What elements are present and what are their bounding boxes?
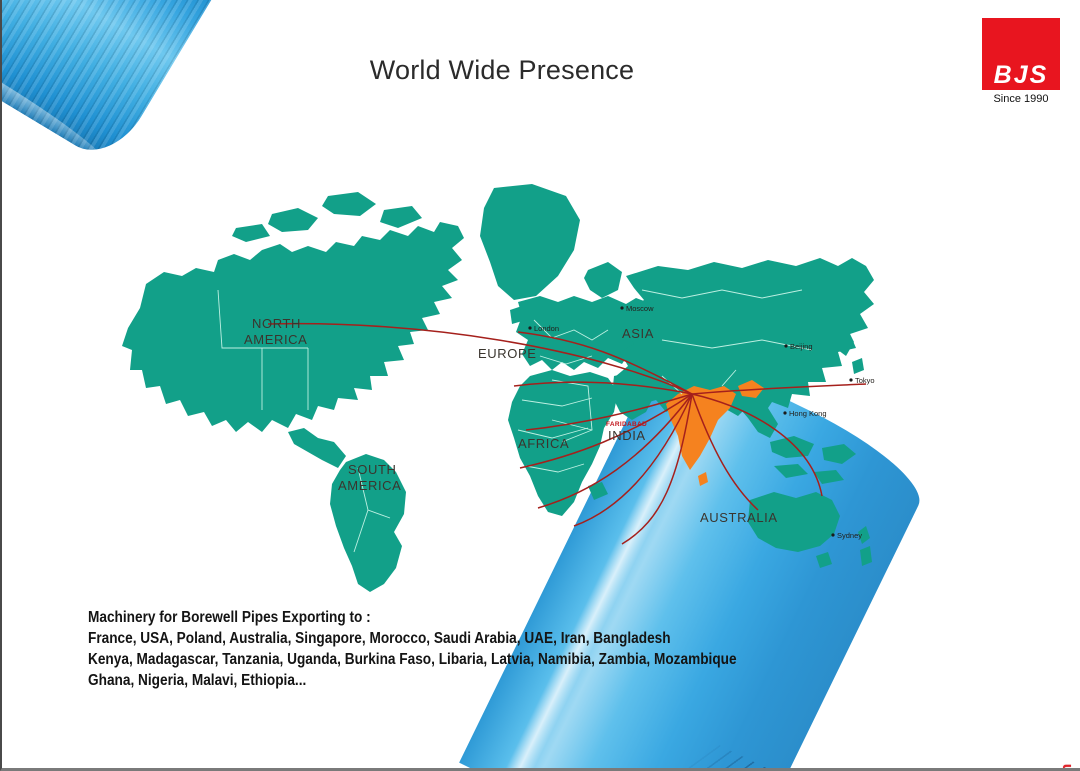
continent-label-asia: ASIA <box>622 326 654 341</box>
brand-logo: BJS Since 1990 <box>980 18 1062 113</box>
footer-countries-line-1: France, USA, Poland, Australia, Singapor… <box>88 628 669 649</box>
footer-heading: Machinery for Borewell Pipes Exporting t… <box>88 607 669 628</box>
origin-country-label: INDIA <box>608 428 646 443</box>
continent-label-north-america-line1: NORTH <box>252 316 301 331</box>
logo-red-box: BJS <box>982 18 1060 90</box>
origin-city-label: FARIDABAD <box>606 421 647 428</box>
continent-label-south-america-line2: AMERICA <box>338 478 401 493</box>
city-label-london: London <box>534 324 559 333</box>
logo-brand-text: BJS <box>982 63 1060 88</box>
city-dot-moscow <box>620 306 623 309</box>
city-dot-hongkong <box>783 411 786 414</box>
city-label-hongkong: Hong Kong <box>789 409 827 418</box>
website-url[interactable]: www.pipeslottingmachine.in <box>1058 764 1075 771</box>
city-label-beijing: Beijing <box>790 342 813 351</box>
page-title: World Wide Presence <box>2 55 1002 86</box>
footer-countries-line-2: Kenya, Madagascar, Tanzania, Uganda, Bur… <box>88 649 669 670</box>
continent-label-north-america-line2: AMERICA <box>244 332 307 347</box>
map-origin-marker: FARIDABAD INDIA <box>606 421 647 443</box>
city-dot-sydney <box>831 533 834 536</box>
pipe-slot-lines <box>611 718 780 771</box>
city-dot-london <box>528 326 531 329</box>
world-map: London Moscow Beijing Tokyo Hong Kong Sy… <box>122 180 882 600</box>
website-url-container: www.pipeslottingmachine.in <box>1044 285 1066 485</box>
continent-label-africa: AFRICA <box>518 436 569 451</box>
city-label-moscow: Moscow <box>626 304 654 313</box>
city-label-sydney: Sydney <box>837 531 862 540</box>
continent-label-europe: EUROPE <box>478 346 537 361</box>
logo-tagline: Since 1990 <box>980 93 1062 105</box>
map-landmasses <box>122 184 874 592</box>
continent-label-australia: AUSTRALIA <box>700 510 778 525</box>
city-dot-beijing <box>784 344 787 347</box>
slide-page: World Wide Presence BJS Since 1990 www.p… <box>0 0 1080 771</box>
city-dot-tokyo <box>849 378 852 381</box>
city-label-tokyo: Tokyo <box>855 376 875 385</box>
continent-label-south-america-line1: SOUTH <box>348 462 397 477</box>
export-countries-block: Machinery for Borewell Pipes Exporting t… <box>88 607 669 691</box>
footer-countries-line-3: Ghana, Nigeria, Malavi, Ethiopia... <box>88 670 669 691</box>
